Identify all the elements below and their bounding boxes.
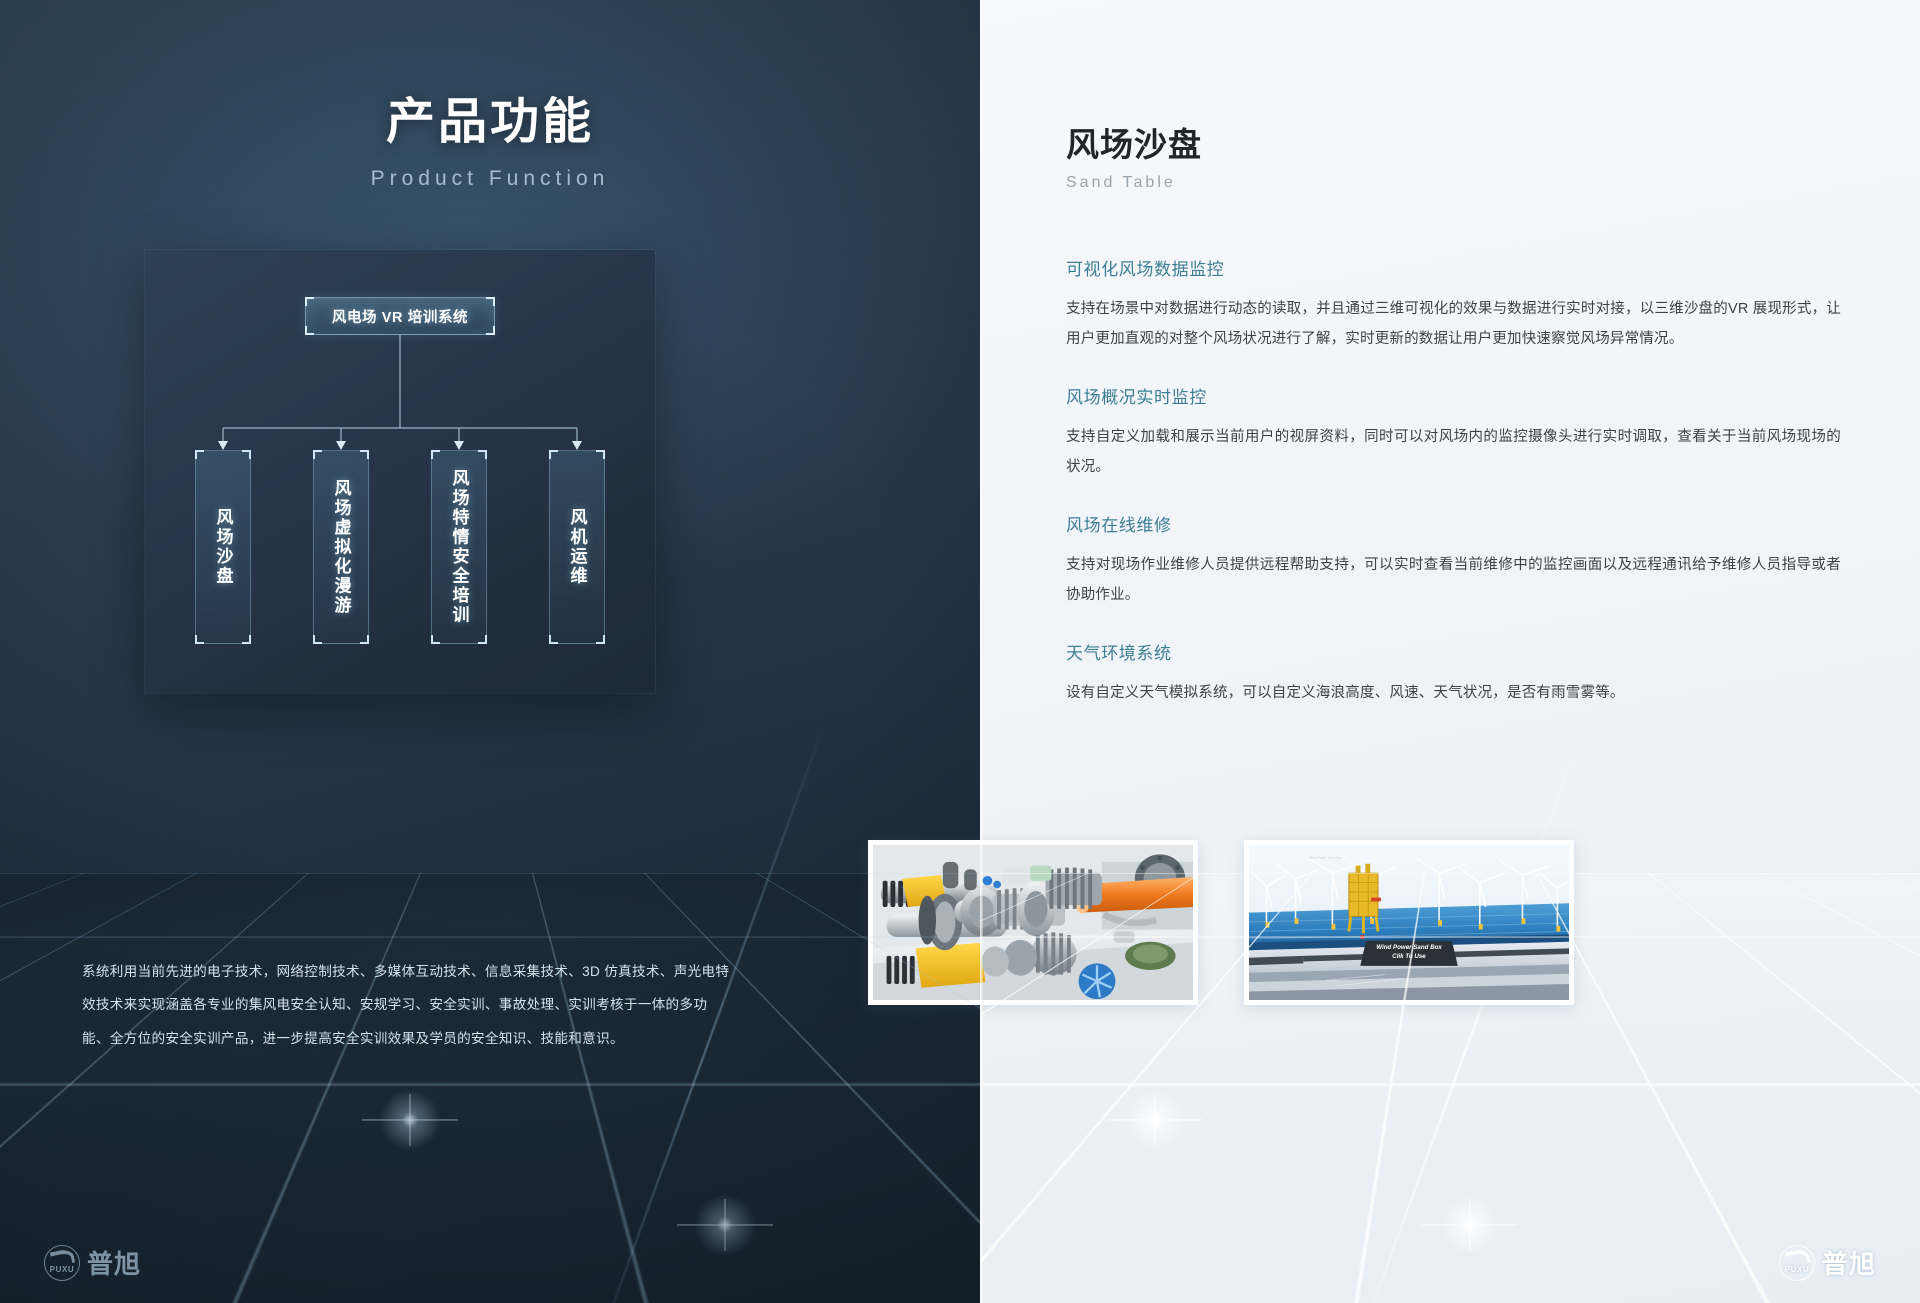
- diagram-leaf-virtual-roaming[interactable]: 风场虚拟化漫游: [313, 450, 369, 644]
- feature-title: 风场在线维修: [1066, 511, 1841, 536]
- grid-node-glow: [690, 1190, 760, 1260]
- gearbox-render-image: [873, 845, 1193, 1000]
- sand-table-screen-label: Wind Power Sand Box Clik To Use: [1360, 941, 1458, 966]
- feature-body: 支持自定义加载和展示当前用户的视屏资料，同时可以对风场内的监控摄像头进行实时调取…: [1066, 422, 1841, 483]
- slide-page: 产品功能 Product Function 风电场 VR 培训系统: [0, 0, 1920, 1303]
- diagram-leaf-label: 风机运维: [565, 508, 590, 586]
- feature-body: 支持对现场作业维修人员提供远程帮助支持，可以实时查看当前维修中的监控画面以及远程…: [1066, 550, 1841, 611]
- brand-latin-text: PUXU: [44, 1265, 80, 1274]
- grid-node-glow: [1120, 1085, 1190, 1155]
- diagram-leaf-label: 风场特情安全培训: [447, 469, 472, 625]
- product-function-diagram: 风电场 VR 培训系统: [145, 250, 655, 693]
- feature-item: 天气环境系统 设有自定义天气模拟系统，可以自定义海浪高度、风速、天气状况，是否有…: [1066, 639, 1841, 708]
- right-panel: 风场沙盘 Sand Table 可视化风场数据监控 支持在场景中对数据进行动态的…: [980, 0, 1920, 1303]
- grid-node-glow: [375, 1085, 445, 1155]
- sand-table-photo-image: Wind Power Sand Box: [1249, 845, 1569, 1000]
- right-title-block: 风场沙盘 Sand Table: [1066, 118, 1202, 192]
- diagram-leaf-safety-training[interactable]: 风场特情安全培训: [431, 450, 487, 644]
- diagram-leaf-turbine-om[interactable]: 风机运维: [549, 450, 605, 644]
- left-grid-floor: [0, 873, 980, 1303]
- diagram-leaf-sand-table[interactable]: 风场沙盘: [195, 450, 251, 644]
- brand-cn-text: 普旭: [87, 1244, 141, 1281]
- feature-item: 可视化风场数据监控 支持在场景中对数据进行动态的读取，并且通过三维可视化的效果与…: [1066, 255, 1841, 355]
- brand-logo-left: PUXU 普旭: [44, 1244, 141, 1281]
- feature-section-list: 可视化风场数据监控 支持在场景中对数据进行动态的读取，并且通过三维可视化的效果与…: [1066, 255, 1841, 736]
- section-heading: 风场沙盘: [1066, 118, 1202, 166]
- feature-title: 风场概况实时监控: [1066, 383, 1841, 408]
- screenshot-sand-table[interactable]: Wind Power Sand Box Wind Power Sand Box …: [1244, 840, 1574, 1005]
- feature-body: 设有自定义天气模拟系统，可以自定义海浪高度、风速、天气状况，是否有雨雪雾等。: [1066, 678, 1841, 708]
- diagram-leaf-label: 风场虚拟化漫游: [329, 479, 354, 616]
- feature-title: 可视化风场数据监控: [1066, 255, 1841, 280]
- feature-body: 支持在场景中对数据进行动态的读取，并且通过三维可视化的效果与数据进行实时对接，以…: [1066, 294, 1841, 355]
- brand-cn-text: 普旭: [1822, 1244, 1876, 1281]
- svg-text:Wind Power Sand Box: Wind Power Sand Box: [1309, 856, 1342, 860]
- brand-latin-text: PUXU: [1779, 1265, 1815, 1274]
- puxu-emblem-icon: PUXU: [1779, 1245, 1815, 1281]
- section-subheading: Sand Table: [1066, 174, 1202, 192]
- sand-label-line1: Wind Power Sand Box: [1376, 944, 1442, 953]
- sand-label-line2: Clik To Use: [1376, 953, 1442, 962]
- screenshot-gearbox[interactable]: [868, 840, 1198, 1005]
- left-panel: 产品功能 Product Function 风电场 VR 培训系统: [0, 0, 980, 1303]
- page-title: 产品功能: [0, 82, 980, 153]
- screenshot-gallery: Wind Power Sand Box Wind Power Sand Box …: [868, 840, 1574, 1005]
- feature-title: 天气环境系统: [1066, 639, 1841, 664]
- feature-item: 风场概况实时监控 支持自定义加载和展示当前用户的视屏资料，同时可以对风场内的监控…: [1066, 383, 1841, 483]
- left-description-paragraph: 系统利用当前先进的电子技术，网络控制技术、多媒体互动技术、信息采集技术、3D 仿…: [82, 955, 732, 1055]
- light-beam: [1337, 724, 1585, 1303]
- grid-node-glow: [1435, 1190, 1505, 1260]
- puxu-emblem-icon: PUXU: [44, 1245, 80, 1281]
- brand-logo-right: PUXU 普旭: [1779, 1244, 1876, 1281]
- page-subtitle: Product Function: [0, 167, 980, 191]
- left-title-block: 产品功能 Product Function: [0, 82, 980, 191]
- diagram-leaf-label: 风场沙盘: [211, 508, 236, 586]
- feature-item: 风场在线维修 支持对现场作业维修人员提供远程帮助支持，可以实时查看当前维修中的监…: [1066, 511, 1841, 611]
